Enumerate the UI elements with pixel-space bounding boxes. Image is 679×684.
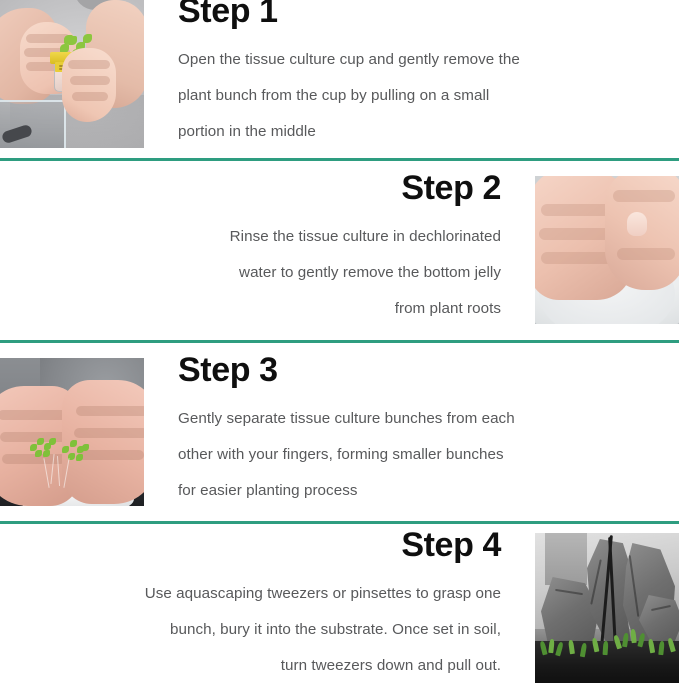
step-4-body-line-1: Use aquascaping tweezers or pinsettes to… (40, 576, 501, 612)
step-1-photo-artwork (0, 0, 144, 148)
step-2-heading: Step 2 (40, 171, 501, 205)
step-1-body-line-3: portion in the middle (178, 114, 638, 150)
step-1-body: Open the tissue culture cup and gently r… (178, 42, 638, 150)
step-4-body-line-2: bunch, bury it into the substrate. Once … (40, 612, 501, 648)
step-3-text-column: Step 3 Gently separate tissue culture bu… (178, 353, 638, 509)
step-3-photo (0, 358, 144, 506)
plant-bunch-right-icon (62, 440, 88, 462)
step-block-3: Step 3 Gently separate tissue culture bu… (0, 343, 679, 522)
step-3-heading: Step 3 (178, 353, 638, 387)
step-block-4: Step 4 Use aquascaping tweezers or pinse… (0, 524, 679, 683)
step-2-photo-artwork (535, 176, 679, 324)
step-1-photo (0, 0, 144, 148)
step-2-body-line-1: Rinse the tissue culture in dechlorinate… (40, 219, 501, 255)
step-4-body: Use aquascaping tweezers or pinsettes to… (40, 576, 501, 684)
step-block-2: Step 2 Rinse the tissue culture in dechl… (0, 161, 679, 341)
step-2-photo (535, 176, 679, 324)
step-block-1: Step 1 Open the tissue culture cup and g… (0, 0, 679, 159)
step-4-body-line-3: turn tweezers down and pull out. (40, 648, 501, 684)
step-1-body-line-1: Open the tissue culture cup and gently r… (178, 42, 638, 78)
step-3-body: Gently separate tissue culture bunches f… (178, 401, 638, 509)
step-1-body-line-2: plant bunch from the cup by pulling on a… (178, 78, 638, 114)
step-3-body-line-2: other with your fingers, forming smaller… (178, 437, 638, 473)
step-2-text-column: Step 2 Rinse the tissue culture in dechl… (40, 171, 501, 327)
step-2-body-line-2: water to gently remove the bottom jelly (40, 255, 501, 291)
step-3-body-line-3: for easier planting process (178, 473, 638, 509)
step-4-heading: Step 4 (40, 528, 501, 562)
step-4-photo (535, 533, 679, 683)
plant-bunch-left-icon (30, 436, 56, 458)
step-4-photo-artwork (535, 533, 679, 683)
step-1-text-column: Step 1 Open the tissue culture cup and g… (178, 0, 638, 150)
instruction-sheet: Step 1 Open the tissue culture cup and g… (0, 0, 679, 683)
step-1-heading: Step 1 (178, 0, 638, 28)
step-4-text-column: Step 4 Use aquascaping tweezers or pinse… (40, 528, 501, 684)
step-3-body-line-1: Gently separate tissue culture bunches f… (178, 401, 638, 437)
step-2-body-line-3: from plant roots (40, 291, 501, 327)
step-3-photo-artwork (0, 358, 144, 506)
step-2-body: Rinse the tissue culture in dechlorinate… (40, 219, 501, 327)
